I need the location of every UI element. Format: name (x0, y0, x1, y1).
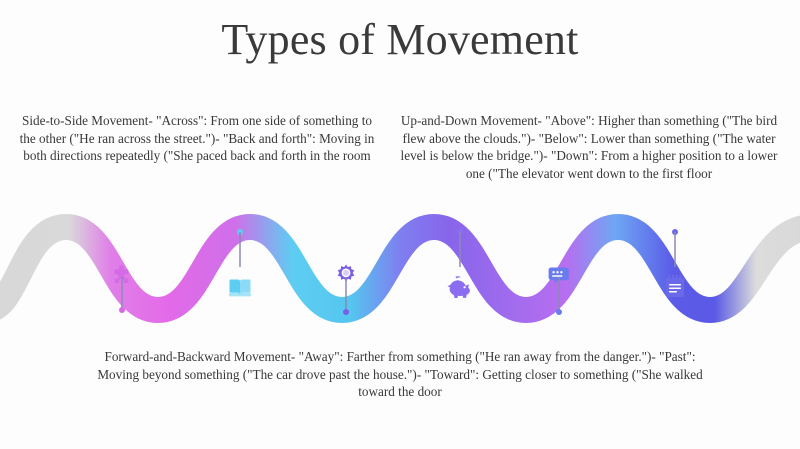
slide-canvas: Types of Movement Side-to-Side Movement-… (0, 0, 800, 449)
connector-line (558, 277, 560, 312)
piggy-bank-icon (442, 269, 478, 305)
wave-timeline-graphic (0, 205, 800, 355)
connector-line (459, 232, 461, 267)
page-title: Types of Movement (0, 16, 800, 64)
connector-line (674, 232, 676, 267)
text-block-up-and-down: Up-and-Down Movement- "Above": Higher th… (392, 112, 786, 182)
connector-line (121, 277, 123, 310)
connector-dot (119, 307, 125, 313)
notepad-icon (657, 269, 693, 305)
connector-dot (343, 309, 349, 315)
text-block-forward-and-backward: Forward-and-Backward Movement- "Away": F… (96, 348, 704, 401)
text-block-side-to-side: Side-to-Side Movement- "Across": From on… (18, 112, 376, 165)
connector-dot (556, 309, 562, 315)
book-icon (222, 269, 258, 305)
connector-line (345, 277, 347, 312)
connector-line (239, 232, 241, 267)
